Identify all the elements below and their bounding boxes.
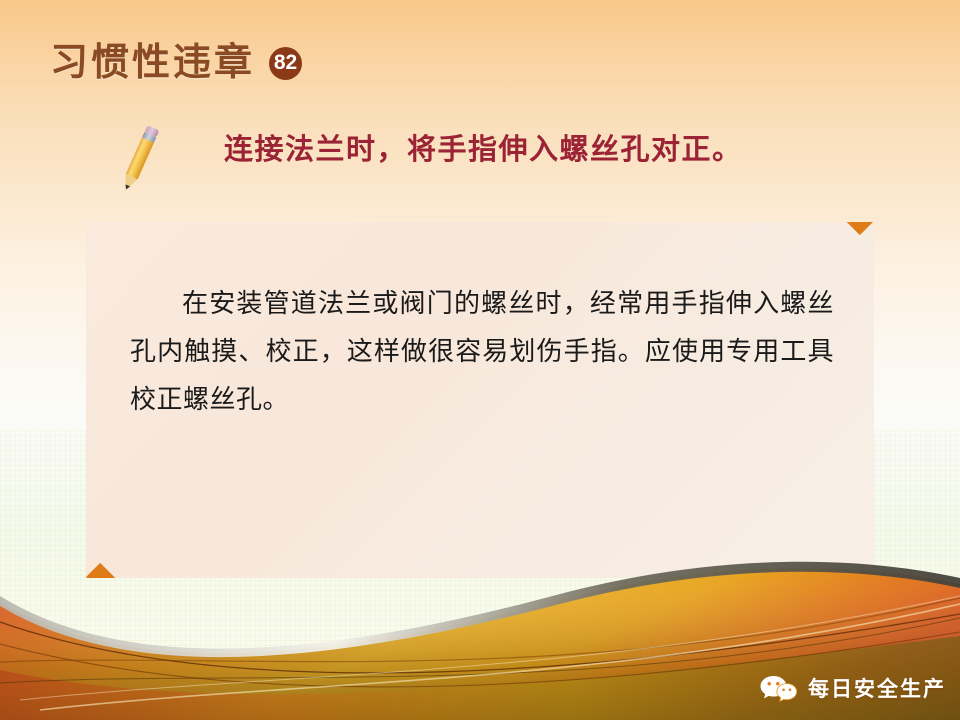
page-title: 习惯性违章 [50, 44, 255, 82]
corner-stripe-top-right [754, 222, 874, 235]
wechat-icon [759, 674, 799, 704]
pencil-icon [108, 122, 172, 194]
watermark: 每日安全生产 [759, 674, 946, 704]
content-card: 在安装管道法兰或阀门的螺丝时，经常用手指伸入螺丝孔内触摸、校正，这样做很容易划伤… [86, 222, 874, 578]
body-paragraph: 在安装管道法兰或阀门的螺丝时，经常用手指伸入螺丝孔内触摸、校正，这样做很容易划伤… [130, 280, 834, 424]
slide-header: 习惯性违章 82 [50, 44, 302, 82]
slide-subtitle: 连接法兰时，将手指伸入螺丝孔对正。 [224, 133, 743, 168]
slide-number-badge: 82 [269, 47, 302, 80]
slide-canvas: 习惯性违章 82 [0, 0, 960, 720]
watermark-label: 每日安全生产 [808, 679, 946, 700]
